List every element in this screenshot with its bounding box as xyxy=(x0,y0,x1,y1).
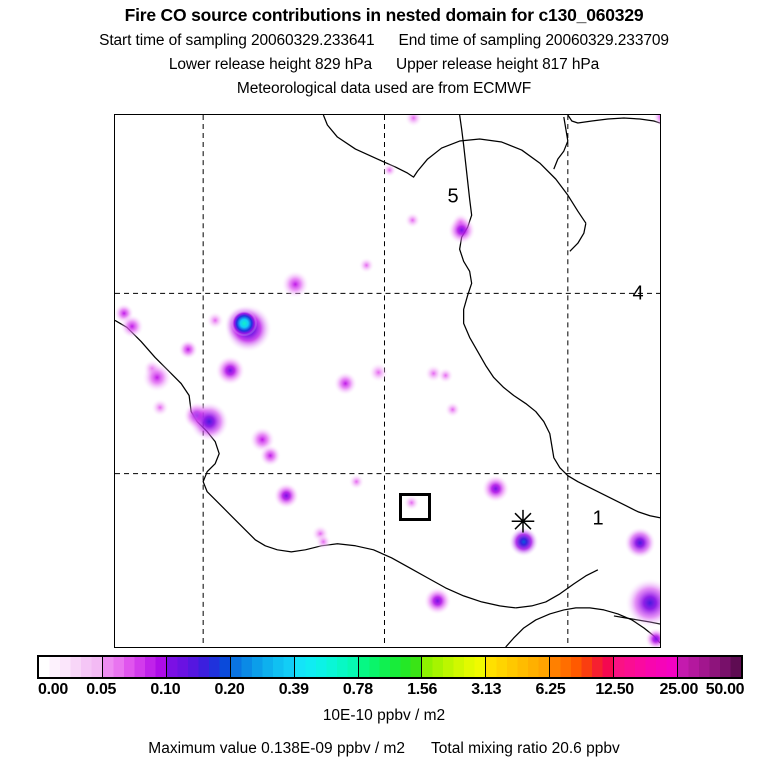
lower-release-height-label: Lower release height 829 hPa xyxy=(169,56,372,73)
colorbar-segment-6 xyxy=(422,657,486,677)
colorbar-unit-label: 10E-10 ppbv / m2 xyxy=(0,707,768,725)
colorbar-tick-50.00: 50.00 xyxy=(706,681,745,699)
colorbar-segment-3 xyxy=(231,657,295,677)
colorbar-tick-25.00: 25.00 xyxy=(660,681,699,699)
colorbar-segment-9 xyxy=(614,657,678,677)
coastline xyxy=(115,115,660,647)
source-blob xyxy=(445,402,461,418)
source-blob-layer xyxy=(115,115,660,647)
colorbar-segment-4 xyxy=(295,657,359,677)
source-blob xyxy=(259,445,281,467)
colorbar-tick-0.20: 0.20 xyxy=(215,681,245,699)
source-blob xyxy=(120,314,144,338)
map-graphics xyxy=(115,115,660,647)
end-time-label: End time of sampling 20060329.233709 xyxy=(398,32,668,49)
maximum-value-label: Maximum value 0.138E-09 ppbv / m2 xyxy=(148,740,405,757)
colorbar-tick-0.05: 0.05 xyxy=(86,681,116,699)
source-blob xyxy=(624,527,656,559)
grid-label-1: 1 xyxy=(592,508,603,531)
grid-label-4: 4 xyxy=(632,283,643,306)
source-blob xyxy=(178,339,198,359)
colorbar-segment-5 xyxy=(359,657,423,677)
upper-release-height-label: Upper release height 817 hPa xyxy=(396,56,599,73)
source-blob xyxy=(142,362,172,392)
colorbar-tick-0.00: 0.00 xyxy=(38,681,68,699)
source-blob xyxy=(482,475,510,503)
colorbar-tick-12.50: 12.50 xyxy=(595,681,634,699)
colorbar-tick-1.56: 1.56 xyxy=(407,681,437,699)
map-panel[interactable]: ✳ 541 xyxy=(114,114,661,648)
footer-stats: Maximum value 0.138E-09 ppbv / m2Total m… xyxy=(0,740,768,758)
colorbar-tick-0.10: 0.10 xyxy=(150,681,180,699)
source-blob xyxy=(273,483,299,509)
colorbar-segment-0 xyxy=(39,657,103,677)
source-blob xyxy=(358,257,374,273)
source-blob xyxy=(653,115,660,127)
colorbar-segment-10 xyxy=(678,657,741,677)
graticule xyxy=(115,115,660,647)
colorbar-tick-6.25: 6.25 xyxy=(535,681,565,699)
release-box-marker xyxy=(399,493,431,521)
source-blob xyxy=(405,212,421,228)
source-blob xyxy=(424,587,452,615)
met-data-label: Meteorological data used are from ECMWF xyxy=(0,80,768,98)
grid-label-5: 5 xyxy=(447,186,458,209)
start-time-label: Start time of sampling 20060329.233641 xyxy=(99,32,374,49)
sampling-time-line: Start time of sampling 20060329.233641En… xyxy=(0,32,768,50)
source-blob xyxy=(189,402,229,442)
colorbar-tick-3.13: 3.13 xyxy=(471,681,501,699)
source-blob xyxy=(382,163,396,177)
source-blob xyxy=(215,355,245,385)
source-blob xyxy=(448,216,476,244)
source-blob xyxy=(151,399,169,417)
source-blob xyxy=(368,362,388,382)
source-blob xyxy=(348,474,364,490)
source-blob xyxy=(333,371,357,395)
source-blob xyxy=(405,115,423,127)
colorbar-tick-0.78: 0.78 xyxy=(343,681,373,699)
colorbar-segment-2 xyxy=(167,657,231,677)
colorbar-segment-8 xyxy=(550,657,614,677)
release-height-line: Lower release height 829 hPaUpper releas… xyxy=(0,56,768,74)
header: Fire CO source contributions in nested d… xyxy=(0,0,768,98)
receptor-asterisk-marker: ✳ xyxy=(510,507,536,538)
total-mixing-ratio-label: Total mixing ratio 20.6 ppbv xyxy=(431,740,620,757)
source-blob xyxy=(281,270,309,298)
source-blob xyxy=(315,534,331,550)
source-blob xyxy=(206,311,224,329)
page-title: Fire CO source contributions in nested d… xyxy=(0,5,768,26)
source-blob-peak xyxy=(231,310,257,336)
source-blob xyxy=(625,578,660,628)
colorbar-container[interactable] xyxy=(37,655,743,679)
colorbar-tick-labels: 0.000.050.100.200.390.781.563.136.2512.5… xyxy=(0,681,768,701)
source-blob xyxy=(438,367,454,383)
colorbar-tick-0.39: 0.39 xyxy=(279,681,309,699)
colorbar[interactable] xyxy=(37,655,743,679)
colorbar-segment-1 xyxy=(103,657,167,677)
colorbar-segment-7 xyxy=(486,657,550,677)
